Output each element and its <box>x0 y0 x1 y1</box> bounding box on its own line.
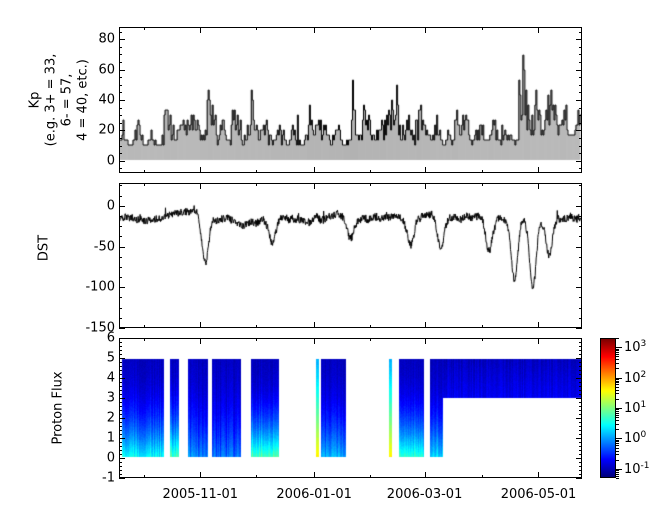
colorbar-major-tick <box>616 438 622 439</box>
y-tick-label: 5 <box>69 351 115 366</box>
x-minor-tick <box>538 325 539 328</box>
y-minor-tick <box>579 394 582 395</box>
y-minor-tick <box>119 168 122 169</box>
colorbar-minor-tick <box>616 363 619 364</box>
x-minor-tick <box>482 170 483 173</box>
proton-flux-heatmap-canvas <box>120 339 581 477</box>
y-minor-tick <box>579 402 582 403</box>
x-minor-tick <box>370 325 371 328</box>
y-minor-tick <box>119 450 122 451</box>
y-minor-tick <box>579 374 582 375</box>
colorbar-minor-tick <box>616 359 619 360</box>
y-minor-tick <box>119 108 122 109</box>
x-minor-tick <box>538 27 539 30</box>
x-minor-tick <box>200 170 201 173</box>
colorbar-minor-tick <box>616 409 619 410</box>
y-minor-tick <box>579 92 582 93</box>
colorbar-tick-label: 100 <box>624 430 646 446</box>
proton-flux-axis-title: Proton Flux <box>51 371 66 444</box>
x-minor-tick <box>256 170 257 173</box>
y-major-tick <box>119 39 125 40</box>
y-minor-tick <box>119 54 122 55</box>
colorbar-minor-tick <box>616 350 619 351</box>
y-minor-tick <box>119 216 122 217</box>
y-major-tick <box>576 206 582 207</box>
y-major-tick <box>576 247 582 248</box>
y-minor-tick <box>119 85 122 86</box>
colorbar-major-tick <box>616 378 622 379</box>
y-minor-tick <box>579 410 582 411</box>
colorbar-minor-tick <box>616 387 619 388</box>
y-minor-tick <box>579 426 582 427</box>
y-minor-tick <box>119 406 122 407</box>
y-minor-tick <box>579 446 582 447</box>
y-tick-label: 0 <box>69 198 115 213</box>
x-minor-tick <box>314 170 315 173</box>
y-minor-tick <box>119 454 122 455</box>
y-minor-tick <box>579 168 582 169</box>
x-minor-tick <box>200 325 201 328</box>
y-minor-tick <box>579 434 582 435</box>
y-tick-label: 3 <box>69 391 115 406</box>
y-minor-tick <box>119 62 122 63</box>
colorbar-minor-tick <box>616 443 619 444</box>
y-minor-tick <box>119 92 122 93</box>
colorbar-tick-label: 101 <box>624 400 646 416</box>
y-minor-tick <box>119 394 122 395</box>
y-minor-tick <box>579 366 582 367</box>
x-minor-tick <box>200 338 201 341</box>
y-tick-label: 0 <box>69 451 115 466</box>
y-minor-tick <box>119 257 122 258</box>
colorbar-major-tick <box>616 347 622 348</box>
y-minor-tick <box>579 62 582 63</box>
y-major-tick <box>119 130 125 131</box>
y-minor-tick <box>119 466 122 467</box>
y-minor-tick <box>119 430 122 431</box>
x-minor-tick <box>200 183 201 186</box>
colorbar-minor-tick <box>616 384 619 385</box>
y-major-tick <box>119 247 125 248</box>
y-minor-tick <box>579 470 582 471</box>
y-minor-tick <box>119 267 122 268</box>
y-minor-tick <box>119 354 122 355</box>
y-minor-tick <box>579 138 582 139</box>
x-minor-tick <box>256 27 257 30</box>
kp-axis-title-line: Kp <box>29 92 44 109</box>
dst-plot-panel <box>119 183 582 328</box>
y-minor-tick <box>579 362 582 363</box>
x-minor-tick <box>314 475 315 478</box>
colorbar-minor-tick <box>616 379 619 380</box>
y-minor-tick <box>579 450 582 451</box>
x-minor-tick <box>144 475 145 478</box>
y-minor-tick <box>579 153 582 154</box>
x-minor-tick <box>425 170 426 173</box>
y-minor-tick <box>579 454 582 455</box>
x-minor-tick <box>425 338 426 341</box>
y-minor-tick <box>119 366 122 367</box>
x-minor-tick <box>200 27 201 30</box>
colorbar-minor-tick <box>616 368 619 369</box>
colorbar-tick-label: 103 <box>624 339 646 355</box>
y-major-tick <box>119 398 125 399</box>
y-minor-tick <box>579 123 582 124</box>
x-tick-label: 2006-01-01 <box>276 487 352 502</box>
y-minor-tick <box>579 115 582 116</box>
colorbar-minor-tick <box>616 417 619 418</box>
colorbar-minor-tick <box>616 460 619 461</box>
colorbar-minor-tick <box>616 338 619 339</box>
y-minor-tick <box>119 390 122 391</box>
y-minor-tick <box>119 462 122 463</box>
y-minor-tick <box>579 342 582 343</box>
figure-canvas: 020406080 Kp(e.g. 3+ = 33,6- = 57,4 = 40… <box>0 0 665 523</box>
x-minor-tick <box>482 338 483 341</box>
x-tick-label: 2005-11-01 <box>162 487 238 502</box>
y-major-tick <box>576 418 582 419</box>
y-minor-tick <box>579 185 582 186</box>
colorbar-minor-tick <box>616 356 619 357</box>
y-minor-tick <box>119 422 122 423</box>
colorbar-minor-tick <box>616 382 619 383</box>
y-major-tick <box>119 338 125 339</box>
y-major-tick <box>119 438 125 439</box>
y-major-tick <box>119 358 125 359</box>
y-major-tick <box>576 130 582 131</box>
x-minor-tick <box>370 183 371 186</box>
x-minor-tick <box>314 325 315 328</box>
x-minor-tick <box>538 338 539 341</box>
colorbar-minor-tick <box>616 451 619 452</box>
dst-axis-title: DST <box>37 235 52 261</box>
proton-flux-plot-panel <box>119 338 582 478</box>
y-major-tick <box>576 358 582 359</box>
colorbar-minor-tick <box>616 390 619 391</box>
colorbar-minor-tick <box>616 440 619 441</box>
y-minor-tick <box>119 196 122 197</box>
y-minor-tick <box>579 32 582 33</box>
x-minor-tick <box>256 325 257 328</box>
y-minor-tick <box>579 474 582 475</box>
colorbar-minor-tick <box>616 420 619 421</box>
y-major-tick <box>119 478 125 479</box>
y-minor-tick <box>119 362 122 363</box>
y-minor-tick <box>579 216 582 217</box>
proton-flux-colorbar <box>600 338 616 478</box>
y-major-tick <box>576 39 582 40</box>
x-minor-tick <box>538 170 539 173</box>
y-minor-tick <box>119 297 122 298</box>
y-major-tick <box>576 458 582 459</box>
y-tick-label: 2 <box>69 411 115 426</box>
y-minor-tick <box>119 277 122 278</box>
y-minor-tick <box>119 370 122 371</box>
x-minor-tick <box>370 170 371 173</box>
x-minor-tick <box>256 338 257 341</box>
y-major-tick <box>119 418 125 419</box>
x-minor-tick <box>538 475 539 478</box>
y-major-tick <box>119 378 125 379</box>
y-minor-tick <box>119 123 122 124</box>
y-minor-tick <box>119 350 122 351</box>
y-minor-tick <box>119 470 122 471</box>
y-minor-tick <box>579 414 582 415</box>
colorbar-minor-tick <box>616 470 619 471</box>
x-minor-tick <box>200 475 201 478</box>
y-tick-label: -1 <box>69 471 115 486</box>
y-minor-tick <box>579 297 582 298</box>
colorbar-minor-tick <box>616 399 619 400</box>
y-minor-tick <box>119 308 122 309</box>
y-major-tick <box>119 458 125 459</box>
x-minor-tick <box>425 475 426 478</box>
y-minor-tick <box>119 426 122 427</box>
colorbar-minor-tick <box>616 411 619 412</box>
dst-series-canvas <box>120 184 581 327</box>
y-minor-tick <box>579 146 582 147</box>
colorbar-minor-tick <box>616 448 619 449</box>
colorbar-minor-tick <box>616 424 619 425</box>
x-minor-tick <box>314 183 315 186</box>
x-minor-tick <box>482 475 483 478</box>
colorbar-minor-tick <box>616 413 619 414</box>
colorbar-minor-tick <box>616 478 619 479</box>
colorbar-minor-tick <box>616 354 619 355</box>
y-tick-label: -50 <box>69 239 115 254</box>
y-minor-tick <box>579 236 582 237</box>
x-minor-tick <box>144 27 145 30</box>
y-major-tick <box>576 378 582 379</box>
y-minor-tick <box>119 342 122 343</box>
y-minor-tick <box>579 267 582 268</box>
y-minor-tick <box>119 47 122 48</box>
colorbar-minor-tick <box>616 429 619 430</box>
y-minor-tick <box>119 138 122 139</box>
y-major-tick <box>576 161 582 162</box>
x-minor-tick <box>314 27 315 30</box>
y-tick-label: 1 <box>69 431 115 446</box>
y-minor-tick <box>579 346 582 347</box>
y-minor-tick <box>579 462 582 463</box>
colorbar-tick-label: 102 <box>624 369 646 385</box>
x-minor-tick <box>314 338 315 341</box>
y-minor-tick <box>119 346 122 347</box>
x-minor-tick <box>425 27 426 30</box>
x-minor-tick <box>144 325 145 328</box>
y-minor-tick <box>119 402 122 403</box>
y-minor-tick <box>119 382 122 383</box>
x-minor-tick <box>482 183 483 186</box>
y-minor-tick <box>119 414 122 415</box>
colorbar-minor-tick <box>616 472 619 473</box>
y-major-tick <box>576 478 582 479</box>
y-tick-label: 0 <box>69 153 115 168</box>
y-minor-tick <box>579 406 582 407</box>
y-major-tick <box>119 206 125 207</box>
x-minor-tick <box>482 27 483 30</box>
y-minor-tick <box>579 382 582 383</box>
x-minor-tick <box>482 325 483 328</box>
y-minor-tick <box>579 47 582 48</box>
colorbar-minor-tick <box>616 454 619 455</box>
y-major-tick <box>119 287 125 288</box>
y-minor-tick <box>579 370 582 371</box>
x-minor-tick <box>370 475 371 478</box>
y-minor-tick <box>119 226 122 227</box>
x-tick-label: 2006-05-01 <box>501 487 577 502</box>
y-tick-label: 4 <box>69 371 115 386</box>
y-minor-tick <box>579 77 582 78</box>
y-minor-tick <box>119 434 122 435</box>
x-minor-tick <box>538 183 539 186</box>
y-major-tick <box>576 100 582 101</box>
x-minor-tick <box>425 183 426 186</box>
y-major-tick <box>576 328 582 329</box>
kp-series-canvas <box>120 28 581 172</box>
y-minor-tick <box>119 185 122 186</box>
colorbar-minor-tick <box>616 441 619 442</box>
colorbar-minor-tick <box>616 476 619 477</box>
y-major-tick <box>576 338 582 339</box>
y-minor-tick <box>119 442 122 443</box>
y-minor-tick <box>579 386 582 387</box>
x-minor-tick <box>144 170 145 173</box>
colorbar-minor-tick <box>616 445 619 446</box>
y-major-tick <box>576 287 582 288</box>
y-major-tick <box>119 161 125 162</box>
y-tick-label: -100 <box>69 280 115 295</box>
y-minor-tick <box>119 374 122 375</box>
colorbar-minor-tick <box>616 349 619 350</box>
colorbar-major-tick <box>616 408 622 409</box>
y-minor-tick <box>579 318 582 319</box>
y-minor-tick <box>579 430 582 431</box>
y-minor-tick <box>119 115 122 116</box>
kp-axis-title-line: 4 = 40, etc.) <box>77 59 92 141</box>
y-minor-tick <box>119 32 122 33</box>
colorbar-minor-tick <box>616 381 619 382</box>
y-major-tick <box>576 438 582 439</box>
y-minor-tick <box>579 466 582 467</box>
y-minor-tick <box>119 236 122 237</box>
y-minor-tick <box>579 442 582 443</box>
x-minor-tick <box>425 325 426 328</box>
colorbar-gradient <box>601 339 615 477</box>
y-minor-tick <box>579 354 582 355</box>
colorbar-minor-tick <box>616 393 619 394</box>
y-minor-tick <box>579 257 582 258</box>
y-minor-tick <box>579 350 582 351</box>
y-minor-tick <box>119 410 122 411</box>
y-minor-tick <box>119 446 122 447</box>
y-minor-tick <box>579 422 582 423</box>
y-major-tick <box>576 70 582 71</box>
colorbar-minor-tick <box>616 474 619 475</box>
y-minor-tick <box>579 277 582 278</box>
y-minor-tick <box>579 54 582 55</box>
y-major-tick <box>119 70 125 71</box>
colorbar-minor-tick <box>616 415 619 416</box>
colorbar-tick-label: 10-1 <box>624 461 650 477</box>
y-minor-tick <box>119 153 122 154</box>
x-minor-tick <box>370 27 371 30</box>
y-minor-tick <box>119 146 122 147</box>
colorbar-major-tick <box>616 469 622 470</box>
y-tick-label: 80 <box>69 32 115 47</box>
y-minor-tick <box>119 386 122 387</box>
x-minor-tick <box>144 338 145 341</box>
y-major-tick <box>119 328 125 329</box>
y-minor-tick <box>579 308 582 309</box>
y-minor-tick <box>579 85 582 86</box>
y-major-tick <box>119 100 125 101</box>
colorbar-minor-tick <box>616 352 619 353</box>
x-minor-tick <box>370 338 371 341</box>
y-minor-tick <box>579 196 582 197</box>
y-minor-tick <box>119 77 122 78</box>
x-tick-label: 2006-03-01 <box>387 487 463 502</box>
kp-plot-panel <box>119 27 582 173</box>
y-minor-tick <box>579 390 582 391</box>
y-minor-tick <box>119 318 122 319</box>
y-minor-tick <box>579 226 582 227</box>
y-major-tick <box>576 398 582 399</box>
x-minor-tick <box>144 183 145 186</box>
x-minor-tick <box>256 183 257 186</box>
y-tick-label: 6 <box>69 331 115 346</box>
x-minor-tick <box>256 475 257 478</box>
y-minor-tick <box>119 474 122 475</box>
y-minor-tick <box>579 108 582 109</box>
kp-axis-title-line: 6- = 57, <box>61 74 76 127</box>
kp-axis-title-line: (e.g. 3+ = 33, <box>45 54 60 147</box>
